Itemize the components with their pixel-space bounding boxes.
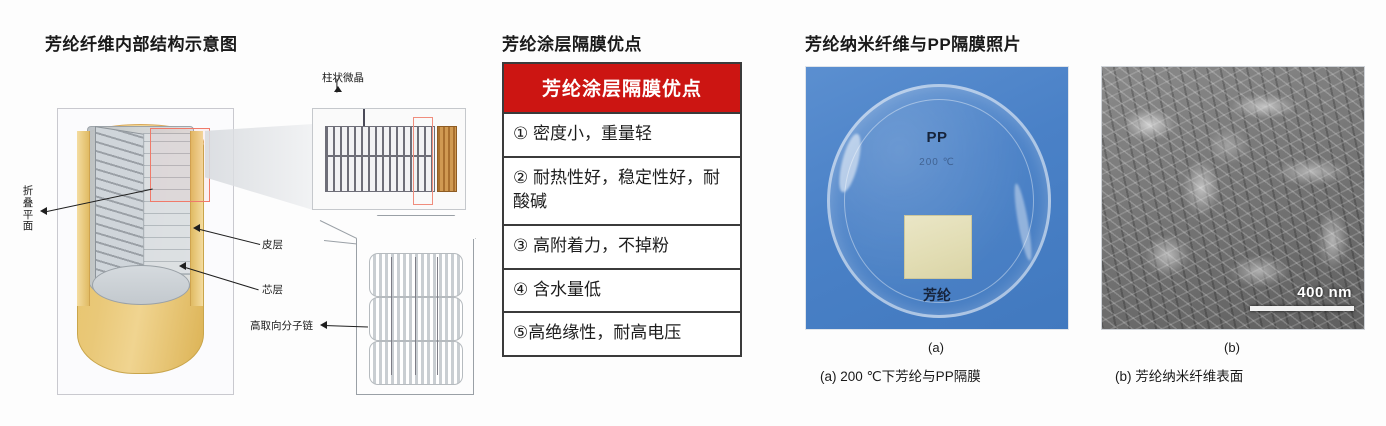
label-skin-layer: 皮层 — [262, 239, 283, 252]
fiber-core-ellipse — [92, 265, 190, 305]
panel-advantages: 芳纶涂层隔膜优点 芳纶涂层隔膜优点 ① 密度小，重量轻 ② 耐热性好，稳定性好，… — [470, 0, 790, 426]
subfigure-label-b: (b) — [1101, 340, 1363, 355]
photo-aramid-pp-dish: PP 200 ℃ 芳纶 — [805, 66, 1069, 330]
figure-canvas: 芳纶纤维内部结构示意图 — [0, 0, 1386, 426]
panel-fiber-structure: 芳纶纤维内部结构示意图 — [0, 0, 470, 426]
chain-line — [415, 257, 416, 375]
fiber-cut-face-striped — [95, 126, 145, 288]
advantage-row-2: ② 耐热性好，稳定性好，耐酸碱 — [504, 158, 740, 226]
advantage-row-3: ③ 高附着力，不掉粉 — [504, 226, 740, 270]
arrowhead-skin — [193, 224, 200, 232]
panel-photos-title: 芳纶纳米纤维与PP隔膜照片 — [805, 30, 1021, 55]
advantages-table-header: 芳纶涂层隔膜优点 — [504, 64, 740, 114]
chain-block — [369, 297, 463, 341]
inset-top-highlight-box — [413, 117, 433, 205]
advantage-row-4: ④ 含水量低 — [504, 270, 740, 314]
aramid-membrane-sample — [904, 215, 972, 279]
inset-columnar-microcrystal — [312, 108, 466, 210]
arrowhead-chain — [320, 321, 327, 329]
caption-photo-b: (b) 芳纶纳米纤维表面 — [1115, 365, 1243, 385]
advantage-row-5: ⑤高绝缘性，耐高电压 — [504, 313, 740, 355]
label-oriented-molecular-chain: 高取向分子链 — [250, 320, 313, 333]
arrowhead-folding-plane — [40, 207, 47, 215]
advantages-table: 芳纶涂层隔膜优点 ① 密度小，重量轻 ② 耐热性好，稳定性好，耐酸碱 ③ 高附着… — [502, 62, 742, 357]
panel-photographs: 芳纶纳米纤维与PP隔膜照片 PP 200 ℃ 芳纶 400 nm (a) (b)… — [790, 0, 1386, 426]
chain-block — [369, 253, 463, 297]
panel-fiber-title: 芳纶纤维内部结构示意图 — [45, 30, 238, 55]
leader-line-chain — [324, 325, 368, 328]
arrowhead-core — [179, 262, 186, 270]
label-columnar-microcrystal: 柱状微晶 — [322, 72, 364, 85]
advantage-row-1: ① 密度小，重量轻 — [504, 114, 740, 158]
photo-label-pp: PP — [806, 129, 1068, 146]
petri-dish — [827, 84, 1051, 318]
photo-label-aramid: 芳纶 — [806, 285, 1068, 305]
fiber-zoom-selection-box — [150, 128, 210, 202]
photo-label-temperature: 200 ℃ — [806, 157, 1068, 168]
arrowhead-microcrystal — [334, 86, 342, 92]
sem-scalebar-label: 400 nm — [1297, 284, 1352, 301]
fiber-skin-wall-left — [77, 131, 90, 306]
photo-sem-nanofiber: 400 nm — [1101, 66, 1365, 330]
label-core-layer: 芯层 — [262, 284, 283, 297]
label-folding-plane: 折叠平面 — [22, 186, 34, 233]
panel-advantages-title: 芳纶涂层隔膜优点 — [502, 30, 642, 55]
caption-photo-a: (a) 200 ℃下芳纶与PP隔膜 — [820, 365, 981, 385]
subfigure-label-a: (a) — [805, 340, 1067, 355]
chain-block — [369, 341, 463, 385]
inset-top-pointer — [363, 109, 365, 127]
chain-line — [391, 257, 392, 375]
chain-line — [437, 257, 438, 375]
inset-top-brown-block — [437, 126, 457, 192]
sem-scalebar-line — [1250, 306, 1354, 311]
inset-molecular-chain — [356, 238, 474, 395]
